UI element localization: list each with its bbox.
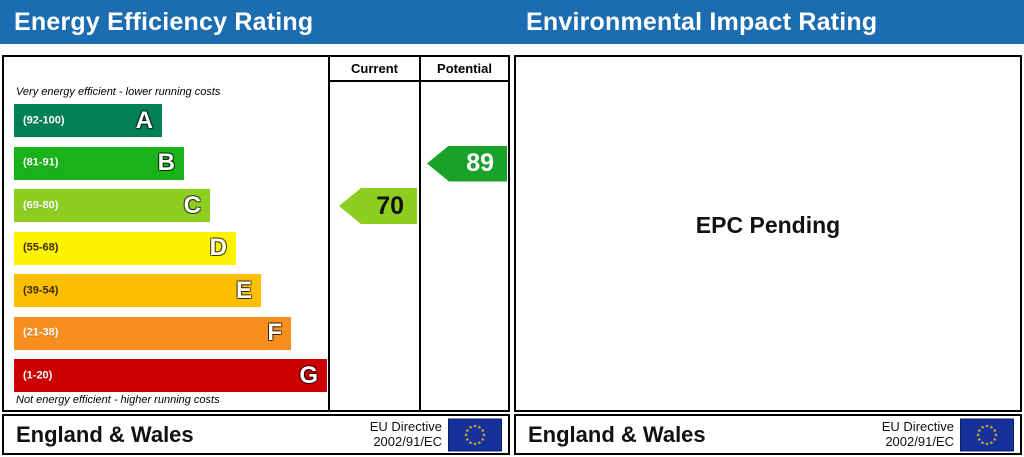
column-header-potential: Potential [419, 57, 508, 82]
band-d-range: (55-68) [23, 243, 58, 254]
directive-line-1: EU Directive [882, 419, 954, 435]
current-rating-arrow: 70 [339, 188, 417, 224]
band-e-letter: E [236, 279, 252, 303]
environmental-impact-panel: Environmental Impact Rating EPC Pending … [512, 0, 1024, 457]
energy-efficiency-panel: Energy Efficiency Rating Current Potenti… [0, 0, 512, 457]
directive-line-1: EU Directive [370, 419, 442, 435]
band-a-letter: A [136, 109, 153, 133]
footer-region-energy: England & Wales [16, 422, 194, 448]
band-b-letter: B [158, 151, 175, 175]
column-divider-potential [419, 57, 421, 410]
footer-region-environmental: England & Wales [528, 422, 706, 448]
band-g: (1-20) G [14, 359, 327, 392]
footer-directive-energy: EU Directive 2002/91/EC [370, 419, 442, 451]
band-f-range: (21-38) [23, 328, 58, 339]
energy-efficiency-chart: Current Potential Very energy efficient … [2, 55, 510, 412]
eu-flag-icon [448, 418, 502, 451]
page-title-energy: Energy Efficiency Rating [14, 8, 313, 37]
epc-pending-message: EPC Pending [516, 212, 1020, 239]
band-d: (55-68) D [14, 232, 236, 265]
potential-rating-value: 89 [466, 149, 494, 178]
environmental-impact-chart: EPC Pending [514, 55, 1022, 412]
energy-efficiency-title-bar: Energy Efficiency Rating [0, 0, 512, 44]
environmental-footer: England & Wales EU Directive 2002/91/EC [514, 414, 1022, 455]
eu-flag-svg [961, 419, 1013, 450]
directive-line-2: 2002/91/EC [370, 435, 442, 451]
band-f-letter: F [267, 321, 282, 345]
band-a: (92-100) A [14, 104, 162, 137]
environmental-impact-title-bar: Environmental Impact Rating [512, 0, 1024, 44]
band-b: (81-91) B [14, 147, 184, 180]
band-c-letter: C [184, 194, 201, 218]
footer-directive-environmental: EU Directive 2002/91/EC [882, 419, 954, 451]
current-rating-value: 70 [376, 192, 404, 221]
band-f: (21-38) F [14, 317, 291, 350]
column-divider-current [328, 57, 330, 410]
rating-bands: Very energy efficient - lower running co… [4, 82, 328, 410]
energy-footer: England & Wales EU Directive 2002/91/EC [2, 414, 510, 455]
band-d-letter: D [210, 236, 227, 260]
column-header-current: Current [328, 57, 419, 82]
potential-rating-arrow: 89 [427, 146, 507, 182]
band-b-range: (81-91) [23, 158, 58, 169]
page-title-environmental: Environmental Impact Rating [526, 8, 877, 37]
band-c-range: (69-80) [23, 200, 58, 211]
eu-flag-svg [449, 419, 501, 450]
band-c: (69-80) C [14, 189, 210, 222]
band-g-range: (1-20) [23, 370, 52, 381]
band-e-range: (39-54) [23, 285, 58, 296]
directive-line-2: 2002/91/EC [882, 435, 954, 451]
band-a-range: (92-100) [23, 115, 65, 126]
band-g-letter: G [299, 364, 318, 388]
caption-inefficient: Not energy efficient - higher running co… [16, 394, 220, 406]
caption-efficient: Very energy efficient - lower running co… [16, 86, 220, 98]
band-e: (39-54) E [14, 274, 261, 307]
eu-flag-icon [960, 418, 1014, 451]
epc-certificate: Energy Efficiency Rating Current Potenti… [0, 0, 1024, 457]
